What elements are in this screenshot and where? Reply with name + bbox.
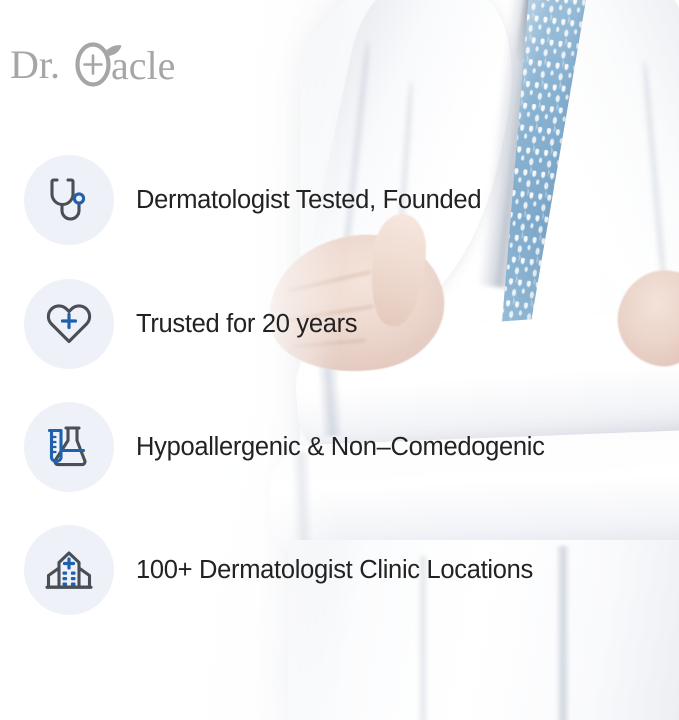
stethoscope-icon [24, 155, 114, 245]
logo-text-after-bind: acle [111, 43, 175, 88]
heart-plus-icon [24, 279, 114, 369]
brand-logo: Dr. acle [10, 42, 182, 88]
flask-test-tube-icon [24, 402, 114, 492]
feature-row: 100+ Dermatologist Clinic Locations [24, 524, 533, 616]
feature-label: Trusted for 20 years [136, 310, 357, 339]
promo-banner: Dr. acle Dermatologist Tested, Founded [0, 0, 679, 720]
logo-text-before-bind: Dr. [10, 42, 60, 87]
feature-label: 100+ Dermatologist Clinic Locations [136, 556, 533, 585]
feature-label: Hypoallergenic & Non–Comedogenic [136, 433, 545, 462]
feature-row: Dermatologist Tested, Founded [24, 154, 481, 246]
hospital-building-icon [24, 525, 114, 615]
logo-plus-icon [85, 56, 102, 74]
feature-row: Trusted for 20 years [24, 278, 357, 370]
coat-vent [556, 546, 570, 720]
feature-row: Hypoallergenic & Non–Comedogenic [24, 401, 545, 493]
feature-label: Dermatologist Tested, Founded [136, 186, 481, 215]
